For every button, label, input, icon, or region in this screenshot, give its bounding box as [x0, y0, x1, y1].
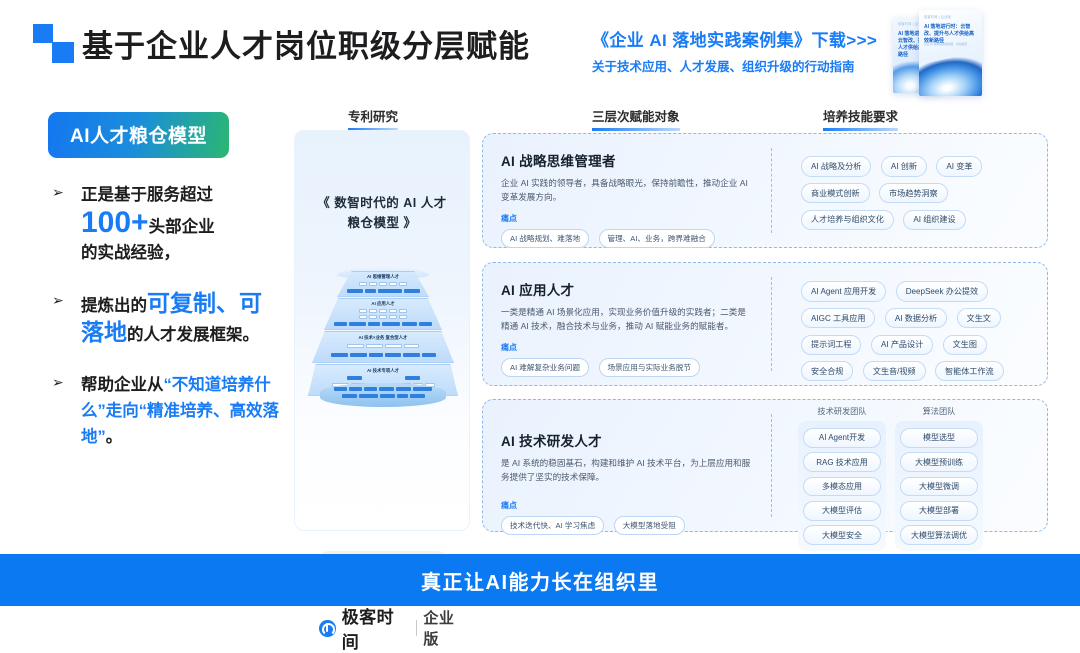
- skill-chip: AI 变革: [936, 156, 982, 176]
- book-front-subtitle: 企业 AI 落地实践案例集 · 行动指南: [924, 42, 977, 46]
- promo-subtitle: 关于技术应用、人才发展、组织升级的行动指南: [592, 56, 892, 75]
- patent-card-title: 《 数智时代的 AI 人才 粮仓模型 》: [309, 193, 455, 233]
- skill-chip: 提示词工程: [801, 335, 861, 355]
- pain-chip: AI 战略规划、难落地: [501, 229, 589, 248]
- team-chip: RAG 技术应用: [803, 452, 881, 472]
- role-card-rnd: AI 技术研发人才 是 AI 系统的稳固基石，构建和维护 AI 技术平台，为上层…: [482, 399, 1048, 532]
- role-card-3-left: AI 技术研发人才 是 AI 系统的稳固基石，构建和维护 AI 技术平台，为上层…: [501, 430, 753, 535]
- column-header-target: 三层次赋能对象: [592, 106, 680, 131]
- bullet-arrow-icon: ➢: [52, 374, 64, 391]
- team-chip: 大模型算法调优: [900, 525, 978, 545]
- role-card-1-skill-list: AI 战略及分析 AI 创新 AI 变革 商业模式创新 市场趋势洞察 人才培养与…: [801, 156, 1031, 236]
- role-card-3-title: AI 技术研发人才: [501, 430, 753, 450]
- pyramid-layer-4-label: AI 技术专项人才: [309, 368, 457, 374]
- role-card-3-divider: [771, 414, 772, 517]
- bullet-3-post: 。: [106, 428, 123, 446]
- skill-chip: AI Agent 应用开发: [801, 281, 886, 301]
- pain-chip: 大模型落地受阻: [614, 516, 685, 535]
- role-card-2-left: AI 应用人才 一类是精通 AI 场景化应用，实现业务价值升级的实践者；二类是精…: [501, 279, 753, 377]
- skill-chip: AI 创新: [881, 156, 927, 176]
- geektime-mark-icon: [319, 620, 336, 637]
- role-card-3-pain-label: 痛点: [501, 500, 753, 511]
- page-title: 基于企业人才岗位职级分层赋能: [82, 21, 530, 66]
- book-cover-front: 极客时间 | 企业版 AI 落地进行时：云智改、提升与人才供给高效新路径 企业 …: [919, 10, 982, 96]
- pyramid-illustration: AI 思维管理人才 AI 应用人才 AI 技术×业务 复合型人才: [303, 267, 463, 407]
- pain-chip: 技术迭代快、AI 学习焦虑: [501, 516, 604, 535]
- logo-divider: [416, 620, 417, 636]
- role-card-1-pain-list: AI 战略规划、难落地 管理、AI、业务，跨界难融合: [501, 228, 753, 248]
- promo-download-link[interactable]: 《企业 AI 落地实践案例集》下载>>>: [592, 26, 892, 51]
- role-card-2-description: 一类是精通 AI 场景化应用，实现业务价值升级的实践者；二类是精通 AI 技术，…: [501, 306, 753, 333]
- team-chip: 大模型评估: [803, 501, 881, 521]
- patent-title-line1: 《 数智时代的 AI 人才: [317, 196, 446, 210]
- team-chip: 大模型微调: [900, 477, 978, 497]
- team-group-rnd: 技术研发团队 AI Agent开发 RAG 技术应用 多模态应用 大模型评估 大…: [798, 405, 886, 551]
- book-cover-images: 极客时间 | 企业版 AI 落地进行时：云智改、提升与人才供给高效新路径 极客时…: [893, 6, 1013, 98]
- bullet-1-post: 的实战经验，: [81, 244, 180, 262]
- footer-banner: 真正让AI能力长在组织里: [0, 554, 1080, 606]
- skill-chip: AI 数据分析: [885, 308, 947, 328]
- skill-chip: 人才培养与组织文化: [801, 210, 894, 230]
- bullet-1-number: 100+: [81, 206, 149, 239]
- role-card-2-pain-list: AI 难解复杂业务问题 场景应用与实际业务脱节: [501, 357, 753, 377]
- bullet-item-2: ➢ 提炼出的可复制、可落地的人才发展框架。: [48, 290, 284, 348]
- skill-chip: 安全合规: [801, 361, 853, 381]
- book-front-brand: 极客时间 | 企业版: [924, 14, 951, 19]
- bullet-3-pre: 帮助企业从: [81, 376, 164, 394]
- left-panel: AI人才粮仓模型 ➢ 正是基于服务超过 100+头部企业 的实战经验， ➢ 提炼…: [48, 112, 284, 450]
- team-chip: 大模型部署: [900, 501, 978, 521]
- bullet-2-post: 的人才发展框架。: [127, 326, 259, 344]
- patent-title-line2: 粮仓模型 》: [348, 216, 417, 230]
- bullet-1-pre: 正是基于服务超过: [81, 186, 213, 204]
- patent-card: 《 数智时代的 AI 人才 粮仓模型 》 AI 思维管理人才 AI 应用人才: [294, 130, 470, 531]
- role-card-1-left: AI 战略思维管理者 企业 AI 实践的领导者，具备战略眼光，保持前瞻性，推动企…: [501, 150, 753, 248]
- skill-chip: AI 产品设计: [871, 335, 933, 355]
- pain-chip: AI 难解复杂业务问题: [501, 358, 589, 377]
- skill-chip: 文生音/视频: [863, 361, 926, 381]
- pain-chip: 场景应用与实际业务脱节: [599, 358, 701, 377]
- role-card-2-skill-list: AI Agent 应用开发 DeepSeek 办公提效 AIGC 工具应用 AI…: [801, 281, 1036, 387]
- bullet-item-1: ➢ 正是基于服务超过 100+头部企业 的实战经验，: [48, 182, 284, 266]
- skill-chip: 商业模式创新: [801, 183, 870, 203]
- role-card-1-title: AI 战略思维管理者: [501, 150, 753, 170]
- role-card-1-pain-label: 痛点: [501, 213, 753, 224]
- bullet-arrow-icon: ➢: [52, 184, 64, 201]
- skill-chip: DeepSeek 办公提效: [896, 281, 988, 301]
- pyramid-base: [320, 383, 446, 407]
- team-chip: 大模型预训练: [900, 452, 978, 472]
- role-card-2-divider: [771, 277, 772, 371]
- role-card-3-description: 是 AI 系统的稳固基石，构建和维护 AI 技术平台，为上层应用和服务提供了坚实…: [501, 457, 753, 484]
- model-badge: AI人才粮仓模型: [48, 112, 229, 158]
- team-chip: 模型选型: [900, 428, 978, 448]
- pyramid-layer-3-label: AI 技术×业务 复合型人才: [313, 335, 453, 341]
- bullet-arrow-icon: ➢: [52, 292, 64, 309]
- role-card-1-description: 企业 AI 实践的领导者，具备战略眼光，保持前瞻性，推动企业 AI 变革发展方向…: [501, 177, 753, 204]
- column-header-patent: 专利研究: [348, 106, 398, 131]
- role-card-3-pain-list: 技术迭代快、AI 学习焦虑 大模型落地受阻: [501, 515, 753, 535]
- footer-text: 真正让AI能力长在组织里: [421, 566, 659, 595]
- role-card-1-divider: [771, 148, 772, 233]
- promo-block[interactable]: 《企业 AI 落地实践案例集》下载>>> 关于技术应用、人才发展、组织升级的行动…: [592, 26, 892, 75]
- team-group-2-name: 算法团队: [895, 405, 983, 417]
- role-card-strategy: AI 战略思维管理者 企业 AI 实践的领导者，具备战略眼光，保持前瞻性，推动企…: [482, 133, 1048, 248]
- skill-chip: 文生文: [957, 308, 1001, 328]
- bullet-item-3: ➢ 帮助企业从“不知道培养什么”走向“精准培养、高效落地”。: [48, 372, 284, 450]
- team-chip: 大模型安全: [803, 525, 881, 545]
- pyramid-layer-1-label: AI 思维管理人才: [338, 274, 428, 280]
- column-header-skill: 培养技能要求: [823, 106, 898, 131]
- skill-chip: AI 战略及分析: [801, 156, 871, 176]
- page-header: 基于企业人才岗位职级分层赋能 《企业 AI 落地实践案例集》下载>>> 关于技术…: [0, 0, 1080, 100]
- team-group-1-name: 技术研发团队: [798, 405, 886, 417]
- bullet-1-mid: 头部企业: [149, 218, 215, 236]
- role-card-2-title: AI 应用人才: [501, 279, 753, 299]
- pain-chip: 管理、AI、业务，跨界难融合: [599, 229, 715, 248]
- skill-chip: AI 组织建设: [903, 210, 965, 230]
- skill-chip: AIGC 工具应用: [801, 308, 875, 328]
- team-chip: 多模态应用: [803, 477, 881, 497]
- team-group-algorithm: 算法团队 模型选型 大模型预训练 大模型微调 大模型部署 大模型算法调优: [895, 405, 983, 551]
- geektime-logo: 极客时间 企业版: [319, 603, 469, 653]
- role-card-application: AI 应用人才 一类是精通 AI 场景化应用，实现业务价值升级的实践者；二类是精…: [482, 262, 1048, 386]
- role-card-2-pain-label: 痛点: [501, 342, 753, 353]
- geektime-edition: 企业版: [423, 607, 469, 649]
- skill-chip: 市场趋势洞察: [879, 183, 948, 203]
- bullet-2-pre: 提炼出的: [81, 297, 147, 315]
- skill-chip: 智能体工作流: [935, 361, 1004, 381]
- geektime-brand-name: 极客时间: [342, 603, 411, 653]
- logo-mark-icon: [33, 24, 77, 64]
- pyramid-layer-2-label: AI 应用人才: [325, 301, 441, 307]
- team-chip: AI Agent开发: [803, 428, 881, 448]
- skill-chip: 文生图: [943, 335, 987, 355]
